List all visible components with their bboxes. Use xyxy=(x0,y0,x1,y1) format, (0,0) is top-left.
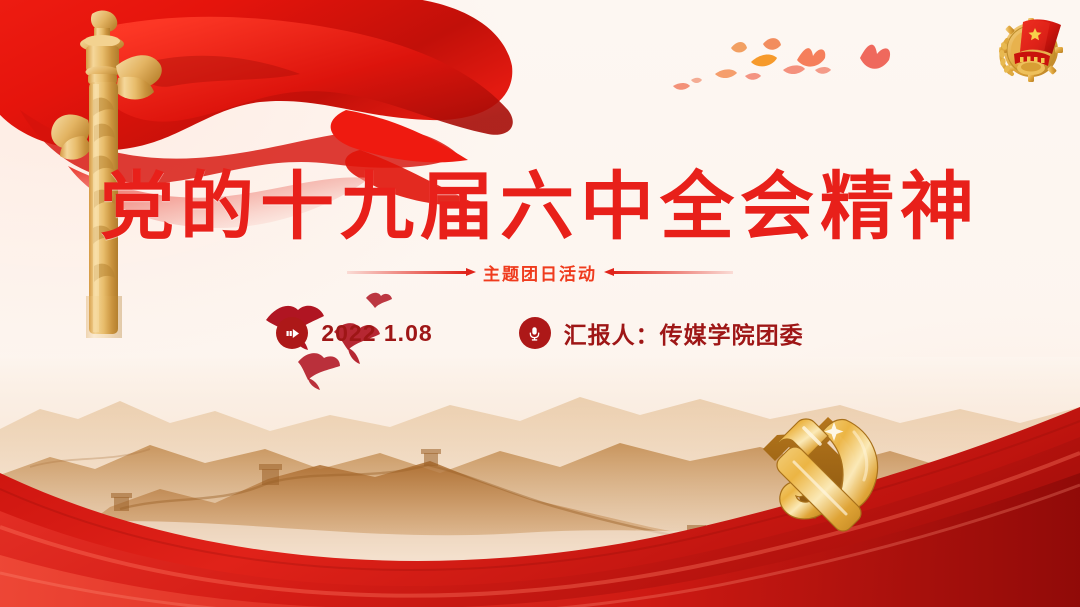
subtitle-rule-left-icon xyxy=(347,271,467,274)
cpc-party-emblem-icon xyxy=(742,398,947,558)
page-title: 党的十九届六中全会精神 xyxy=(0,168,1080,246)
presenter-text: 汇报人：传媒学院团委 xyxy=(564,316,804,350)
title-block: 党的十九届六中全会精神 主题团日活动 xyxy=(0,168,1080,285)
fast-forward-icon xyxy=(276,317,308,349)
date-item: 2022 1.08 xyxy=(276,317,432,349)
presentation-slide: 党的十九届六中全会精神 主题团日活动 2022 1.08 xyxy=(0,0,1080,607)
subtitle-row: 主题团日活动 xyxy=(0,260,1080,285)
date-text: 2022 1.08 xyxy=(321,320,432,347)
flying-birds-flock-icon xyxy=(655,18,895,108)
subtitle: 主题团日活动 xyxy=(483,260,597,285)
microphone-icon xyxy=(519,317,551,349)
meta-row: 2022 1.08 汇报人：传媒学院团委 xyxy=(0,316,1080,350)
subtitle-rule-right-icon xyxy=(613,271,733,274)
presenter-item: 汇报人：传媒学院团委 xyxy=(519,316,804,350)
communist-youth-league-emblem-icon xyxy=(992,8,1070,86)
